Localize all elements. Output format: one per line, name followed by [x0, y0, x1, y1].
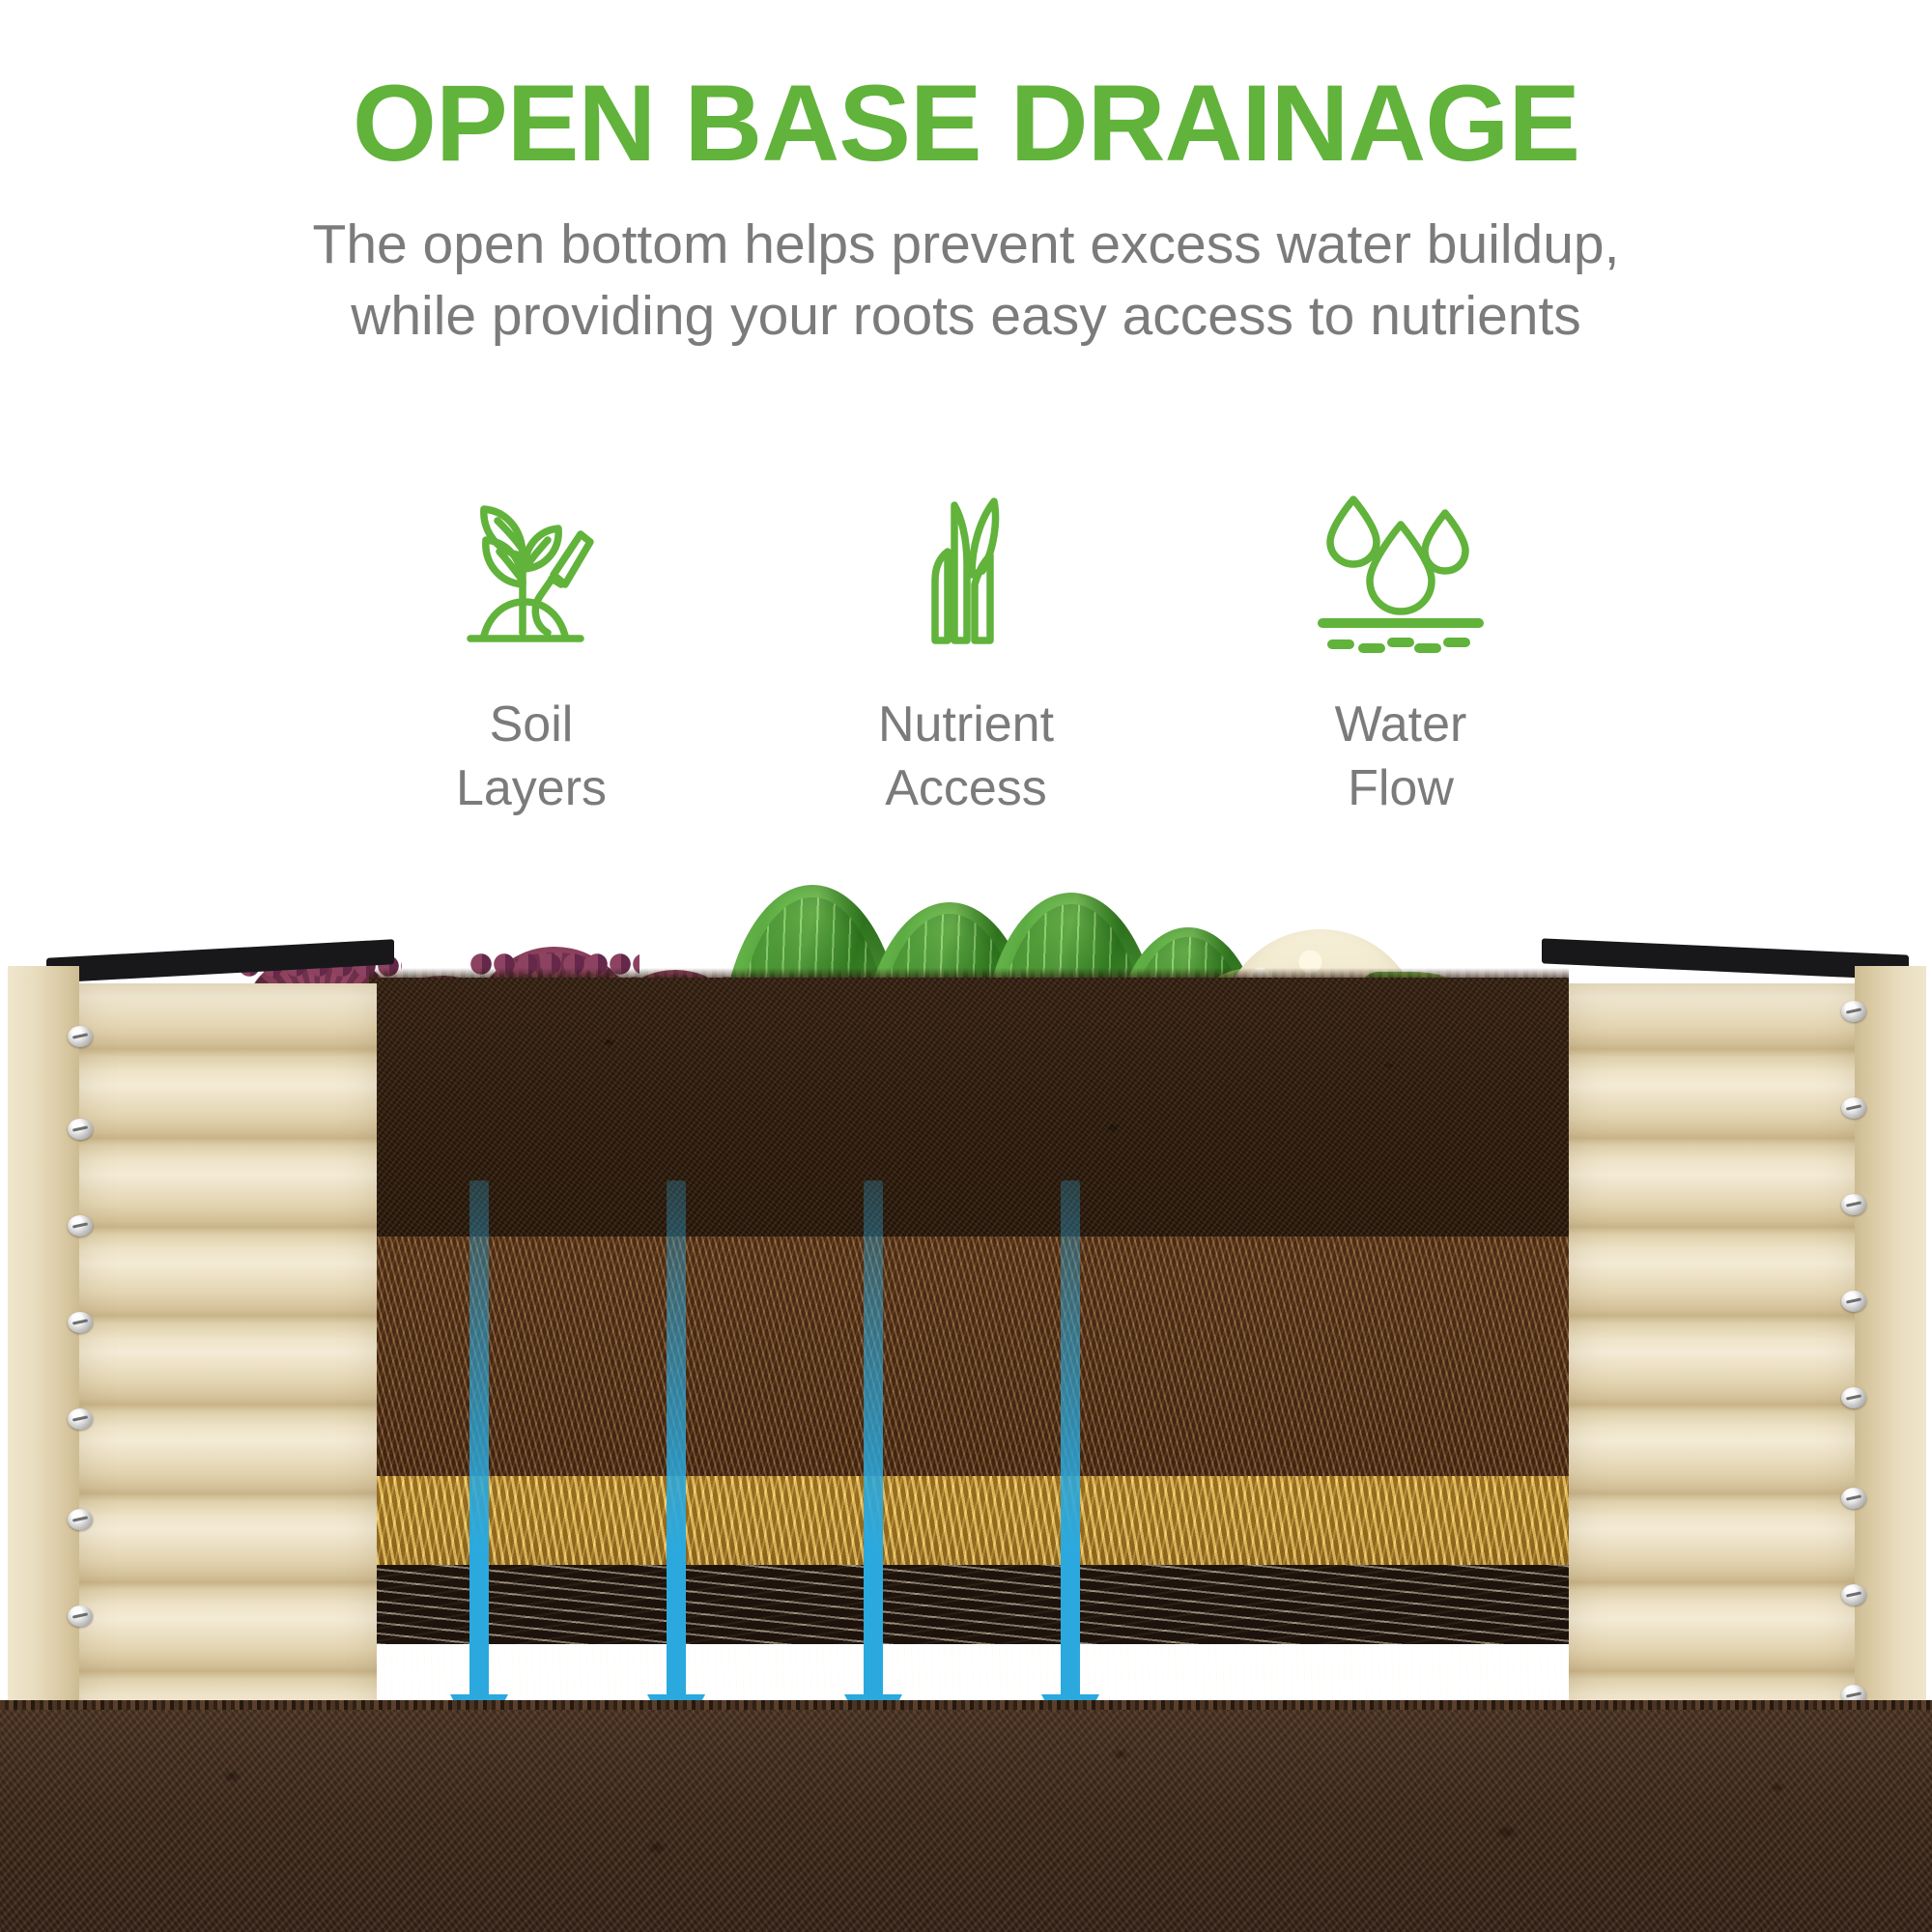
water-droplets-over-permeable-base-icon: [1304, 478, 1497, 657]
feature-row: Soil Layers Nutrient Access: [0, 478, 1932, 884]
metal-panel-left: [8, 966, 377, 1729]
screw-icon: [1841, 1387, 1866, 1408]
feature-label-soil-layers: Soil Layers: [456, 694, 607, 820]
screw-icon: [1841, 1194, 1866, 1215]
feature-label-line-1: Nutrient: [878, 694, 1054, 757]
corner-post: [1855, 966, 1926, 1729]
screw-icon: [68, 1605, 93, 1627]
screw-icon: [68, 1026, 93, 1047]
subtitle-line-1: The open bottom helps prevent excess wat…: [0, 209, 1932, 280]
feature-label-nutrient-access: Nutrient Access: [878, 694, 1054, 820]
screw-icon: [1841, 1488, 1866, 1509]
soil-cross-section: [369, 978, 1569, 1731]
screw-icon: [1841, 1584, 1866, 1605]
feature-label-line-2: Layers: [456, 757, 607, 821]
screw-icon: [1841, 1097, 1866, 1119]
feature-label-line-1: Water: [1335, 694, 1467, 757]
feature-nutrient-access: Nutrient Access: [749, 478, 1183, 820]
plant-with-trowel-icon: [435, 478, 628, 657]
page-subtitle: The open bottom helps prevent excess wat…: [0, 178, 1932, 352]
soil-layer-mulch: [369, 1236, 1569, 1476]
soil-layer-straw: [369, 1476, 1569, 1565]
screw-icon: [68, 1312, 93, 1333]
grass-blades-icon: [869, 478, 1063, 657]
corrugated-sheet: [77, 983, 377, 1729]
page-title: OPEN BASE DRAINAGE: [0, 0, 1932, 178]
subtitle-line-2: while providing your roots easy access t…: [0, 280, 1932, 352]
metal-panel-right: [1569, 966, 1926, 1729]
soil-layer-twigs: [369, 1565, 1569, 1644]
ground-soil: [0, 1710, 1932, 1932]
feature-label-line-2: Access: [878, 757, 1054, 821]
soil-layer-topsoil: [369, 978, 1569, 1236]
product-scene: [0, 869, 1932, 1932]
feature-soil-layers: Soil Layers: [314, 478, 749, 820]
screw-icon: [68, 1215, 93, 1236]
feature-water-flow: Water Flow: [1183, 478, 1618, 820]
screw-icon: [1841, 1291, 1866, 1312]
screw-icon: [68, 1119, 93, 1140]
screw-icon: [1841, 1001, 1866, 1022]
feature-label-line-2: Flow: [1335, 757, 1467, 821]
screw-icon: [68, 1509, 93, 1530]
corrugated-sheet: [1569, 983, 1857, 1729]
header: OPEN BASE DRAINAGE The open bottom helps…: [0, 0, 1932, 386]
feature-label-line-1: Soil: [456, 694, 607, 757]
screw-icon: [68, 1408, 93, 1430]
feature-label-water-flow: Water Flow: [1335, 694, 1467, 820]
